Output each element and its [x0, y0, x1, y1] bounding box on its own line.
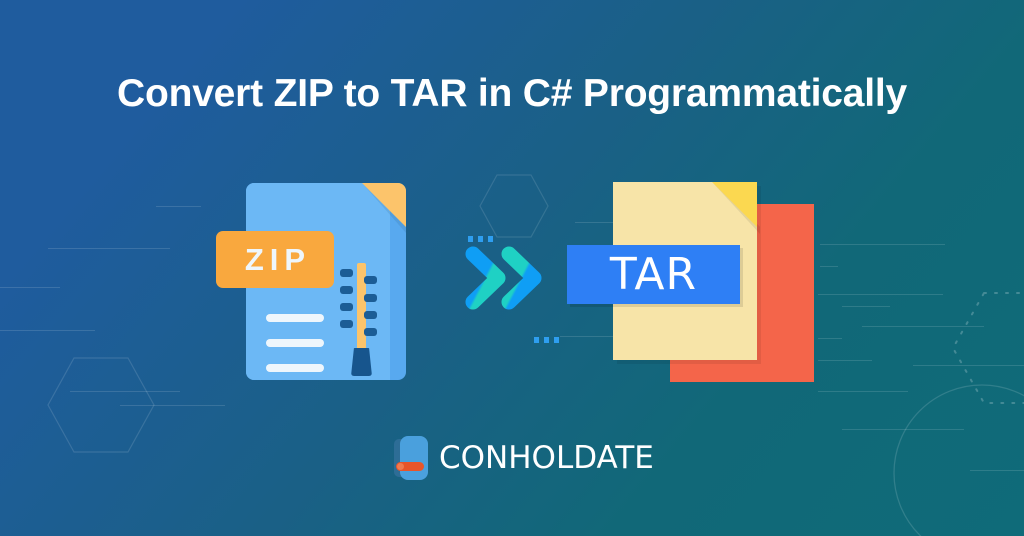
dot-icon	[468, 236, 473, 242]
deco-line	[818, 294, 943, 295]
zip-zipper-tooth	[364, 328, 377, 336]
deco-line	[842, 429, 964, 430]
zip-zipper-tooth	[340, 286, 353, 294]
logo-mark-dot	[397, 463, 404, 470]
deco-line	[0, 330, 95, 331]
hexagon-dotted-right	[950, 290, 1024, 406]
tar-file-icon: TAR	[613, 182, 813, 382]
dot-icon	[544, 337, 549, 343]
deco-line	[820, 244, 945, 245]
zip-zipper-pull	[351, 348, 372, 376]
deco-line	[818, 338, 842, 339]
conholdate-logo-mark-icon	[394, 436, 430, 480]
zip-format-badge: ZIP	[216, 231, 334, 288]
dot-icon	[534, 337, 539, 343]
page-title: Convert ZIP to TAR in C# Programmaticall…	[0, 72, 1024, 117]
deco-line	[970, 470, 1024, 471]
deco-line	[820, 266, 838, 267]
zip-text-line	[266, 314, 324, 322]
conholdate-logo[interactable]: CONHOLDATE	[394, 436, 654, 480]
dot-icon	[554, 337, 559, 343]
dot-icon	[478, 236, 483, 242]
hexagon-outline-left	[46, 355, 156, 455]
banner-container: Convert ZIP to TAR in C# Programmaticall…	[0, 0, 1024, 536]
deco-line	[560, 336, 618, 337]
zip-zipper-tooth	[340, 303, 353, 311]
zip-file-icon: ZIP	[246, 183, 406, 380]
deco-line	[0, 287, 60, 288]
tar-format-banner: TAR	[567, 245, 740, 304]
circle-outline-right	[892, 383, 1024, 536]
conholdate-logo-text: CONHOLDATE	[439, 440, 654, 476]
zip-zipper-tooth	[364, 294, 377, 302]
zip-text-line	[266, 364, 324, 372]
zip-zipper-tooth	[340, 269, 353, 277]
deco-line	[120, 405, 225, 406]
zip-zipper-tooth	[364, 311, 377, 319]
zip-zipper-tooth	[340, 320, 353, 328]
logo-mark-front	[400, 436, 428, 480]
hexagon-outline-center	[478, 173, 550, 239]
deco-line	[913, 365, 1024, 366]
deco-line	[842, 306, 890, 307]
zip-zipper-tooth	[364, 276, 377, 284]
dot-icon	[488, 236, 493, 242]
deco-line	[818, 391, 908, 392]
arrow-dots-bottom	[534, 337, 559, 343]
deco-line	[48, 248, 170, 249]
deco-line	[862, 326, 984, 327]
arrow-dots-top	[468, 236, 493, 242]
deco-line	[818, 360, 872, 361]
deco-line	[70, 391, 180, 392]
double-chevron-right-icon	[462, 243, 558, 313]
deco-line	[156, 206, 201, 207]
zip-text-line	[266, 339, 324, 347]
